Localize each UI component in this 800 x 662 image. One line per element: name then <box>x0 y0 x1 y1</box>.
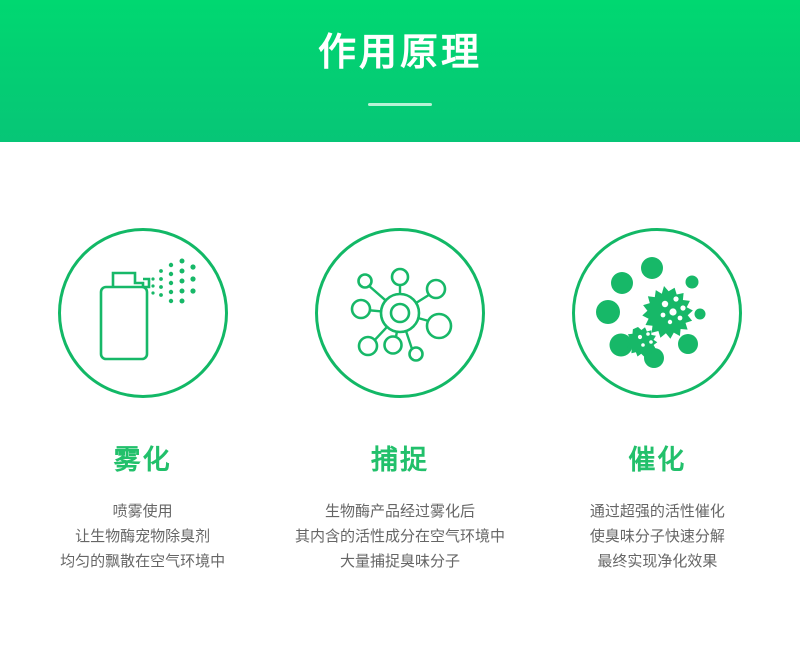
feature-title-capture: 捕捉 <box>371 444 429 476</box>
feature-column-capture: 捕捉 生物酶产品经过雾化后 其内含的活性成分在空气环境中 大量捕捉臭味分子 <box>271 142 528 574</box>
feature-column-catalysis: 催化 通过超强的活性催化 使臭味分子快速分解 最终实现净化效果 <box>529 142 786 574</box>
page-root: 作用原理 <box>0 0 800 662</box>
spray-bottle-icon <box>58 228 228 398</box>
feature-desc-line: 生物酶产品经过雾化后 <box>295 499 505 524</box>
feature-desc-atomization: 喷雾使用 让生物酶宠物除臭剂 均匀的飘散在空气环境中 <box>60 499 225 574</box>
feature-title-catalysis: 催化 <box>628 444 686 476</box>
feature-desc-line: 使臭味分子快速分解 <box>590 524 725 549</box>
feature-desc-line: 喷雾使用 <box>60 499 225 524</box>
molecule-network-icon <box>315 228 485 398</box>
feature-desc-capture: 生物酶产品经过雾化后 其内含的活性成分在空气环境中 大量捕捉臭味分子 <box>295 499 505 574</box>
germs-bacteria-icon <box>572 228 742 398</box>
header-banner: 作用原理 <box>0 0 800 142</box>
feature-desc-line: 其内含的活性成分在空气环境中 <box>295 524 505 549</box>
feature-title-atomization: 雾化 <box>114 444 172 476</box>
feature-desc-line: 让生物酶宠物除臭剂 <box>60 524 225 549</box>
feature-column-atomization: 雾化 喷雾使用 让生物酶宠物除臭剂 均匀的飘散在空气环境中 <box>14 142 271 574</box>
feature-columns: 雾化 喷雾使用 让生物酶宠物除臭剂 均匀的飘散在空气环境中 <box>0 142 800 662</box>
feature-desc-line: 均匀的飘散在空气环境中 <box>60 549 225 574</box>
feature-desc-line: 最终实现净化效果 <box>590 549 725 574</box>
feature-desc-line: 大量捕捉臭味分子 <box>295 549 505 574</box>
feature-desc-catalysis: 通过超强的活性催化 使臭味分子快速分解 最终实现净化效果 <box>590 499 725 574</box>
feature-desc-line: 通过超强的活性催化 <box>590 499 725 524</box>
title-divider <box>368 103 432 106</box>
page-title: 作用原理 <box>0 30 800 76</box>
